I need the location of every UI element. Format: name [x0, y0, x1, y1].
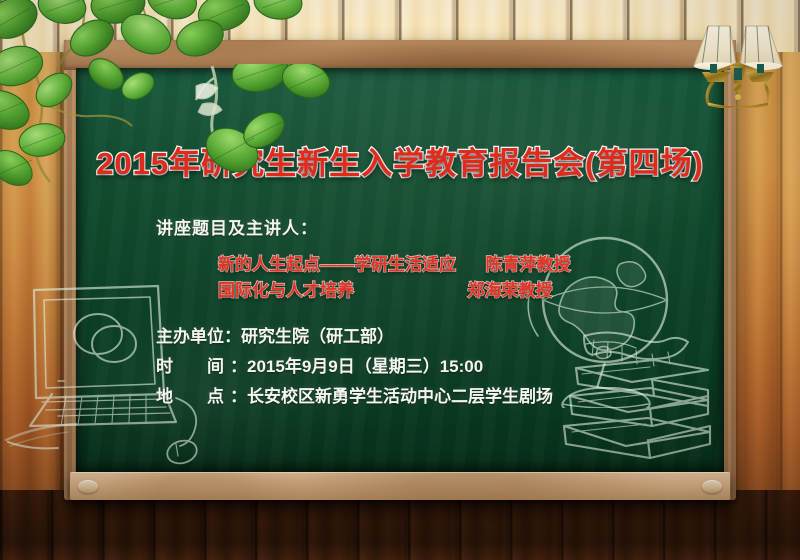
ledge-knob-right-icon — [702, 480, 722, 493]
lecture-row: 新的人生起点——学研生活适应 陈青萍教授 — [218, 250, 570, 275]
info-separator: ： — [230, 387, 247, 406]
info-row-location: 地 点：长安校区新勇学生活动中心二层学生剧场 — [156, 382, 553, 407]
lecture-speaker: 郑海荣教授 — [467, 281, 552, 300]
lecture-topic: 国际化与人才培养 — [218, 281, 354, 300]
wood-wall-bottom-planks — [0, 490, 800, 560]
lecture-speaker: 陈青萍教授 — [485, 255, 570, 274]
info-label: 主办单位 — [156, 327, 224, 346]
wall-sconce-lamp-icon — [686, 8, 790, 108]
info-value: 长安校区新勇学生活动中心二层学生剧场 — [247, 387, 553, 406]
lecture-row: 国际化与人才培养 郑海荣教授 — [218, 276, 552, 301]
lecture-section-label: 讲座题目及主讲人： — [156, 214, 318, 239]
chalk-books-icon — [560, 330, 720, 470]
ledge-knob-left-icon — [78, 480, 98, 493]
info-label: 时 间 — [156, 352, 230, 377]
info-row-time: 时 间：2015年9月9日（星期三）15:00 — [156, 352, 483, 377]
poster-canvas: 2015年研究生新生入学教育报告会(第四场) 讲座题目及主讲人： 新的人生起点—… — [0, 0, 800, 560]
info-value: 2015年9月9日（星期三）15:00 — [247, 357, 483, 376]
info-value: 研究生院（研工部） — [241, 327, 394, 346]
chalkboard-frame-top-plank — [64, 40, 736, 70]
chalk-swoosh-mark — [0, 392, 120, 452]
info-row-organizer: 主办单位：研究生院（研工部） — [156, 322, 394, 347]
chalk-tray-ledge — [70, 472, 730, 500]
info-separator: ： — [230, 357, 247, 376]
page-title: 2015年研究生新生入学教育报告会(第四场) — [0, 138, 800, 183]
info-label: 地 点 — [156, 382, 230, 407]
info-separator: ： — [224, 327, 241, 346]
lecture-topic: 新的人生起点——学研生活适应 — [218, 255, 456, 274]
